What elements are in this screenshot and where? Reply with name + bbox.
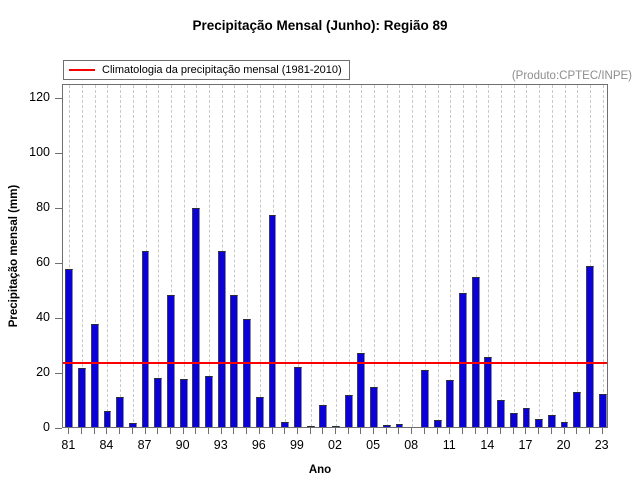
- x-tick-label: 90: [168, 438, 198, 452]
- page-title: Precipitação Mensal (Junho): Região 89: [0, 18, 640, 33]
- x-tick-label: 23: [587, 438, 617, 452]
- x-tick-mark: [68, 428, 69, 434]
- x-tick-mark: [310, 428, 311, 434]
- y-tick-mark: [55, 98, 62, 99]
- x-tick-mark: [449, 428, 450, 434]
- x-tick-mark: [246, 428, 247, 434]
- x-tick-mark: [94, 428, 95, 434]
- climatology-line-swatch-icon: [69, 69, 95, 71]
- x-tick-label: 08: [396, 438, 426, 452]
- x-tick-mark: [386, 428, 387, 434]
- x-tick-mark: [348, 428, 349, 434]
- produto-note: (Produto:CPTEC/INPE): [512, 70, 632, 82]
- x-tick-mark: [411, 428, 412, 434]
- x-tick-mark: [208, 428, 209, 434]
- x-tick-mark: [119, 428, 120, 434]
- x-tick-label: 17: [510, 438, 540, 452]
- x-tick-mark: [437, 428, 438, 434]
- x-tick-label: 93: [206, 438, 236, 452]
- y-tick-label: 120: [0, 90, 50, 104]
- x-tick-label: 81: [53, 438, 83, 452]
- x-tick-mark: [500, 428, 501, 434]
- x-tick-mark: [525, 428, 526, 434]
- y-tick-mark: [55, 373, 62, 374]
- x-tick-label: 20: [549, 438, 579, 452]
- x-tick-mark: [297, 428, 298, 434]
- x-tick-label: 14: [472, 438, 502, 452]
- x-tick-mark: [602, 428, 603, 434]
- x-tick-mark: [284, 428, 285, 434]
- x-tick-mark: [145, 428, 146, 434]
- x-tick-mark: [360, 428, 361, 434]
- x-tick-mark: [373, 428, 374, 434]
- x-tick-mark: [589, 428, 590, 434]
- x-tick-mark: [462, 428, 463, 434]
- x-tick-mark: [564, 428, 565, 434]
- chart-figure: Precipitação Mensal (Junho): Região 89 P…: [0, 0, 640, 500]
- y-tick-mark: [55, 263, 62, 264]
- y-tick-label: 60: [0, 255, 50, 269]
- y-tick-mark: [55, 318, 62, 319]
- y-tick-label: 0: [0, 420, 50, 434]
- x-tick-label: 96: [244, 438, 274, 452]
- y-tick-mark: [55, 428, 62, 429]
- x-tick-mark: [513, 428, 514, 434]
- x-tick-mark: [81, 428, 82, 434]
- climatology-line: [63, 362, 607, 364]
- x-tick-mark: [475, 428, 476, 434]
- y-tick-mark: [55, 153, 62, 154]
- x-tick-mark: [335, 428, 336, 434]
- x-axis-label: Ano: [0, 464, 640, 476]
- legend-label: Climatologia da precipitação mensal (198…: [102, 64, 342, 76]
- x-tick-label: 02: [320, 438, 350, 452]
- x-tick-mark: [221, 428, 222, 434]
- x-tick-label: 87: [130, 438, 160, 452]
- x-tick-label: 11: [434, 438, 464, 452]
- x-tick-mark: [551, 428, 552, 434]
- x-tick-mark: [259, 428, 260, 434]
- y-tick-label: 80: [0, 200, 50, 214]
- x-tick-label: 84: [91, 438, 121, 452]
- x-tick-mark: [322, 428, 323, 434]
- x-tick-mark: [157, 428, 158, 434]
- x-tick-mark: [233, 428, 234, 434]
- x-tick-label: 05: [358, 438, 388, 452]
- x-tick-mark: [195, 428, 196, 434]
- x-tick-mark: [576, 428, 577, 434]
- x-tick-label: 99: [282, 438, 312, 452]
- legend: Climatologia da precipitação mensal (198…: [63, 60, 350, 80]
- x-tick-mark: [398, 428, 399, 434]
- x-tick-mark: [424, 428, 425, 434]
- y-tick-mark: [55, 208, 62, 209]
- plot-area: [62, 84, 608, 428]
- x-tick-mark: [538, 428, 539, 434]
- x-tick-mark: [132, 428, 133, 434]
- x-tick-mark: [272, 428, 273, 434]
- x-tick-mark: [106, 428, 107, 434]
- y-tick-label: 100: [0, 145, 50, 159]
- y-tick-label: 40: [0, 310, 50, 324]
- x-tick-mark: [487, 428, 488, 434]
- y-tick-label: 20: [0, 365, 50, 379]
- x-tick-mark: [170, 428, 171, 434]
- x-tick-mark: [183, 428, 184, 434]
- reference-line-layer: [63, 85, 607, 427]
